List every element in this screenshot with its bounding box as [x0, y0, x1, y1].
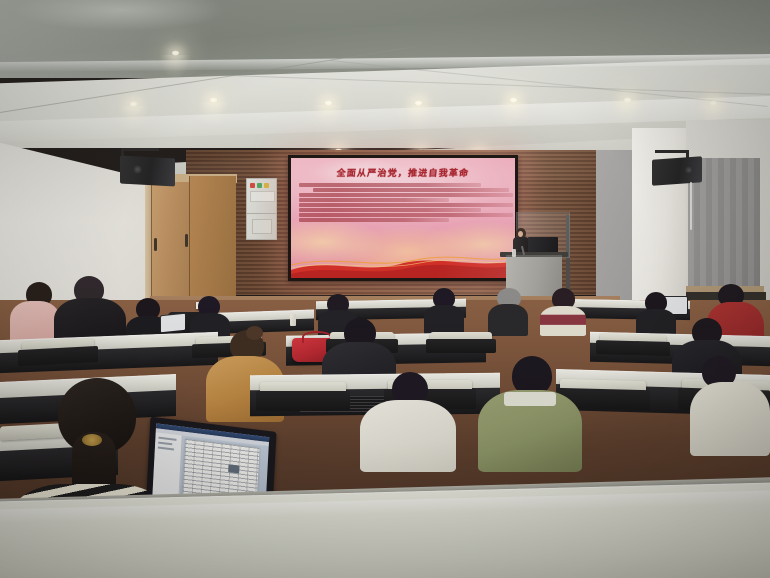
panel-divider	[247, 213, 276, 214]
attendee-torso	[488, 304, 528, 336]
speaker-cone-icon	[133, 165, 142, 174]
led-screen-surface: 全面从严治党，推进自我革命	[291, 158, 515, 278]
led-red-icon	[250, 183, 255, 188]
tablet-case-left	[160, 313, 186, 334]
ceiling-downlight	[209, 97, 218, 103]
wall-speaker-right	[652, 156, 702, 185]
pane-line	[158, 442, 172, 446]
screen-glare	[291, 158, 515, 278]
ceiling-downlight	[709, 100, 718, 106]
attendee-torso	[540, 306, 586, 336]
ceiling-downlight	[129, 101, 138, 107]
attendee-green-ponytail	[478, 356, 582, 468]
tablet-screen	[161, 314, 185, 333]
chair-seat[interactable]	[596, 340, 670, 356]
ceiling-downlight	[623, 97, 632, 103]
led-video-wall[interactable]: 全面从严治党，推进自我革命	[288, 155, 518, 281]
conference-room-photo: 全面从严治党，推进自我革命	[0, 0, 770, 578]
attendee-torso	[424, 305, 464, 335]
speaker-mount-arm	[123, 148, 159, 151]
attendee-gray-beanie	[488, 288, 528, 332]
wall-speaker-left	[120, 156, 175, 187]
paper-cup	[290, 314, 296, 326]
attendee-maroon-stripe	[540, 288, 586, 334]
speaker-cable	[690, 182, 692, 230]
ceiling-downlight	[414, 100, 423, 106]
panel-label-plate	[250, 191, 275, 202]
speaker-mount-arm	[655, 150, 689, 153]
attendee-center-back-2	[424, 288, 464, 332]
chair-seat[interactable]	[426, 339, 496, 353]
door-handle-icon[interactable]	[154, 238, 157, 251]
attendee-torso	[360, 400, 456, 472]
led-green-icon	[257, 183, 262, 188]
chair-seat[interactable]	[256, 391, 350, 411]
door-handle-icon[interactable]	[185, 234, 188, 247]
ceiling-downlight	[324, 100, 333, 106]
attendee-right-dark	[636, 292, 676, 336]
water-bottle	[512, 249, 516, 257]
ceiling-downlight	[509, 97, 518, 103]
led-yellow-icon	[264, 183, 269, 188]
attendee-cream-jacket	[360, 372, 456, 468]
ceiling-downlight	[171, 50, 180, 56]
attendee-torso	[690, 382, 770, 456]
attendee-collar	[504, 392, 556, 406]
spreadsheet-selection	[228, 464, 239, 473]
panel-sub-box	[252, 219, 272, 234]
wall-right-column	[632, 128, 686, 318]
speaker-cone-icon	[685, 166, 693, 174]
pane-line	[158, 447, 174, 451]
attendee-hair-bun	[246, 326, 263, 340]
pane-line	[158, 437, 176, 441]
hair-clip-icon	[82, 434, 102, 446]
wall-control-panel[interactable]	[246, 178, 277, 240]
panel-indicator-leds	[250, 183, 269, 188]
attendee-far-right-edge	[690, 356, 770, 452]
